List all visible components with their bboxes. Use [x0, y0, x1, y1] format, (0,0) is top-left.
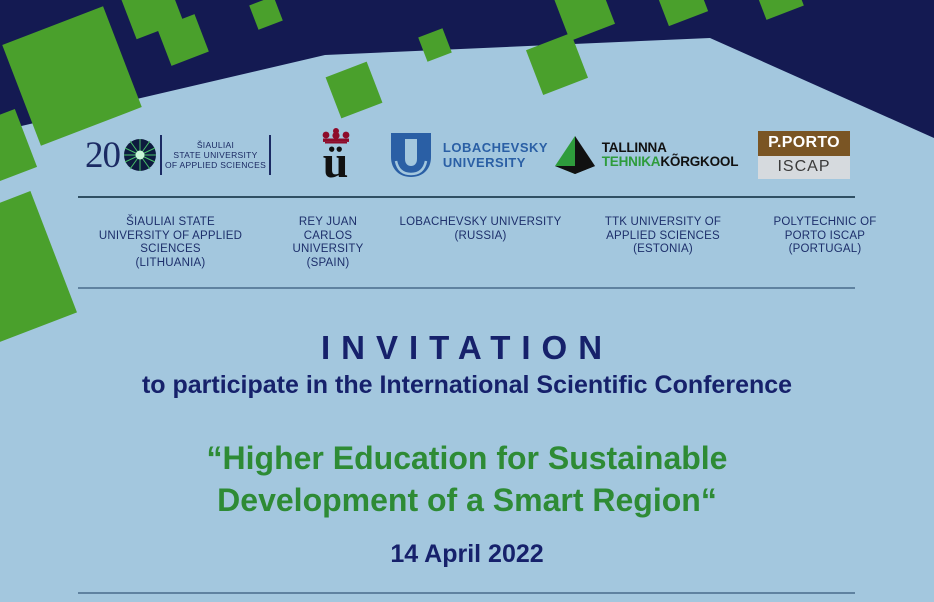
lobachevsky-logo-text: LOBACHEVSKY UNIVERSITY: [443, 140, 548, 170]
partner-name-ttk: TTK UNIVERSITY OFAPPLIED SCIENCES(ESTONI…: [578, 216, 748, 257]
divider-under-logos: [78, 196, 855, 198]
logo-lobachevsky: LOBACHEVSKY UNIVERSITY: [368, 124, 568, 186]
lobachevsky-shield-icon: [388, 131, 434, 179]
ttk-word-tehnika: TEHNIKA: [602, 154, 661, 169]
logo-p-porto-iscap: P.PORTO ISCAP: [753, 124, 855, 186]
partner-name-lobachevsky: LOBACHEVSKY UNIVERSITY(RUSSIA): [378, 216, 583, 243]
porto-top-label: P.PORTO: [758, 131, 850, 156]
conference-date: 14 April 2022: [0, 540, 934, 569]
siauliai-divider-bar-2: [269, 135, 271, 175]
invitation-heading: INVITATION: [0, 329, 934, 367]
invitation-poster: 20: [0, 0, 934, 602]
lobachevsky-line2: UNIVERSITY: [443, 155, 526, 170]
siauliai-anniversary-number: 20: [85, 134, 120, 177]
siauliai-line2: STATE UNIVERSITY: [173, 150, 257, 160]
logo-ttk: TALLINNA TEHNIKAKÕRGKOOL: [558, 124, 733, 186]
siauliai-line1: ŠIAULIAI: [197, 140, 234, 150]
lobachevsky-line1: LOBACHEVSKY: [443, 140, 548, 155]
divider-under-names: [78, 287, 855, 289]
partner-name-rey-juan-carlos: REY JUANCARLOSUNIVERSITY(SPAIN): [268, 216, 388, 270]
invitation-subtitle: to participate in the International Scie…: [0, 371, 934, 400]
conference-title-line2: Development of a Smart Region“: [0, 479, 934, 521]
porto-bottom-label: ISCAP: [758, 156, 850, 179]
partner-name-siauliai: ŠIAULIAI STATEUNIVERSITY OF APPLIEDSCIEN…: [78, 216, 263, 270]
partner-name-porto: POLYTECHNIC OFPORTO ISCAP(PORTUGAL): [750, 216, 900, 257]
urjc-letter: ü: [313, 141, 359, 183]
siauliai-starburst-icon: [123, 138, 157, 172]
siauliai-line3: OF APPLIED SCIENCES: [165, 160, 266, 170]
logo-row: 20: [78, 124, 855, 186]
divider-bottom: [78, 592, 855, 594]
logo-siauliai: 20: [78, 124, 278, 186]
conference-title: “Higher Education for Sustainable Develo…: [0, 437, 934, 521]
ttk-diamond-icon: [553, 134, 597, 176]
ttk-word-tallinna: TALLINNA: [602, 140, 667, 155]
ttk-word-korgkool: KÕRGKOOL: [660, 154, 738, 169]
siauliai-divider-bar: [160, 135, 162, 175]
siauliai-logo-text: ŠIAULIAI STATE UNIVERSITY OF APPLIED SCI…: [165, 140, 266, 170]
conference-title-line1: “Higher Education for Sustainable: [0, 437, 934, 479]
ttk-logo-text: TALLINNA TEHNIKAKÕRGKOOL: [602, 141, 739, 169]
